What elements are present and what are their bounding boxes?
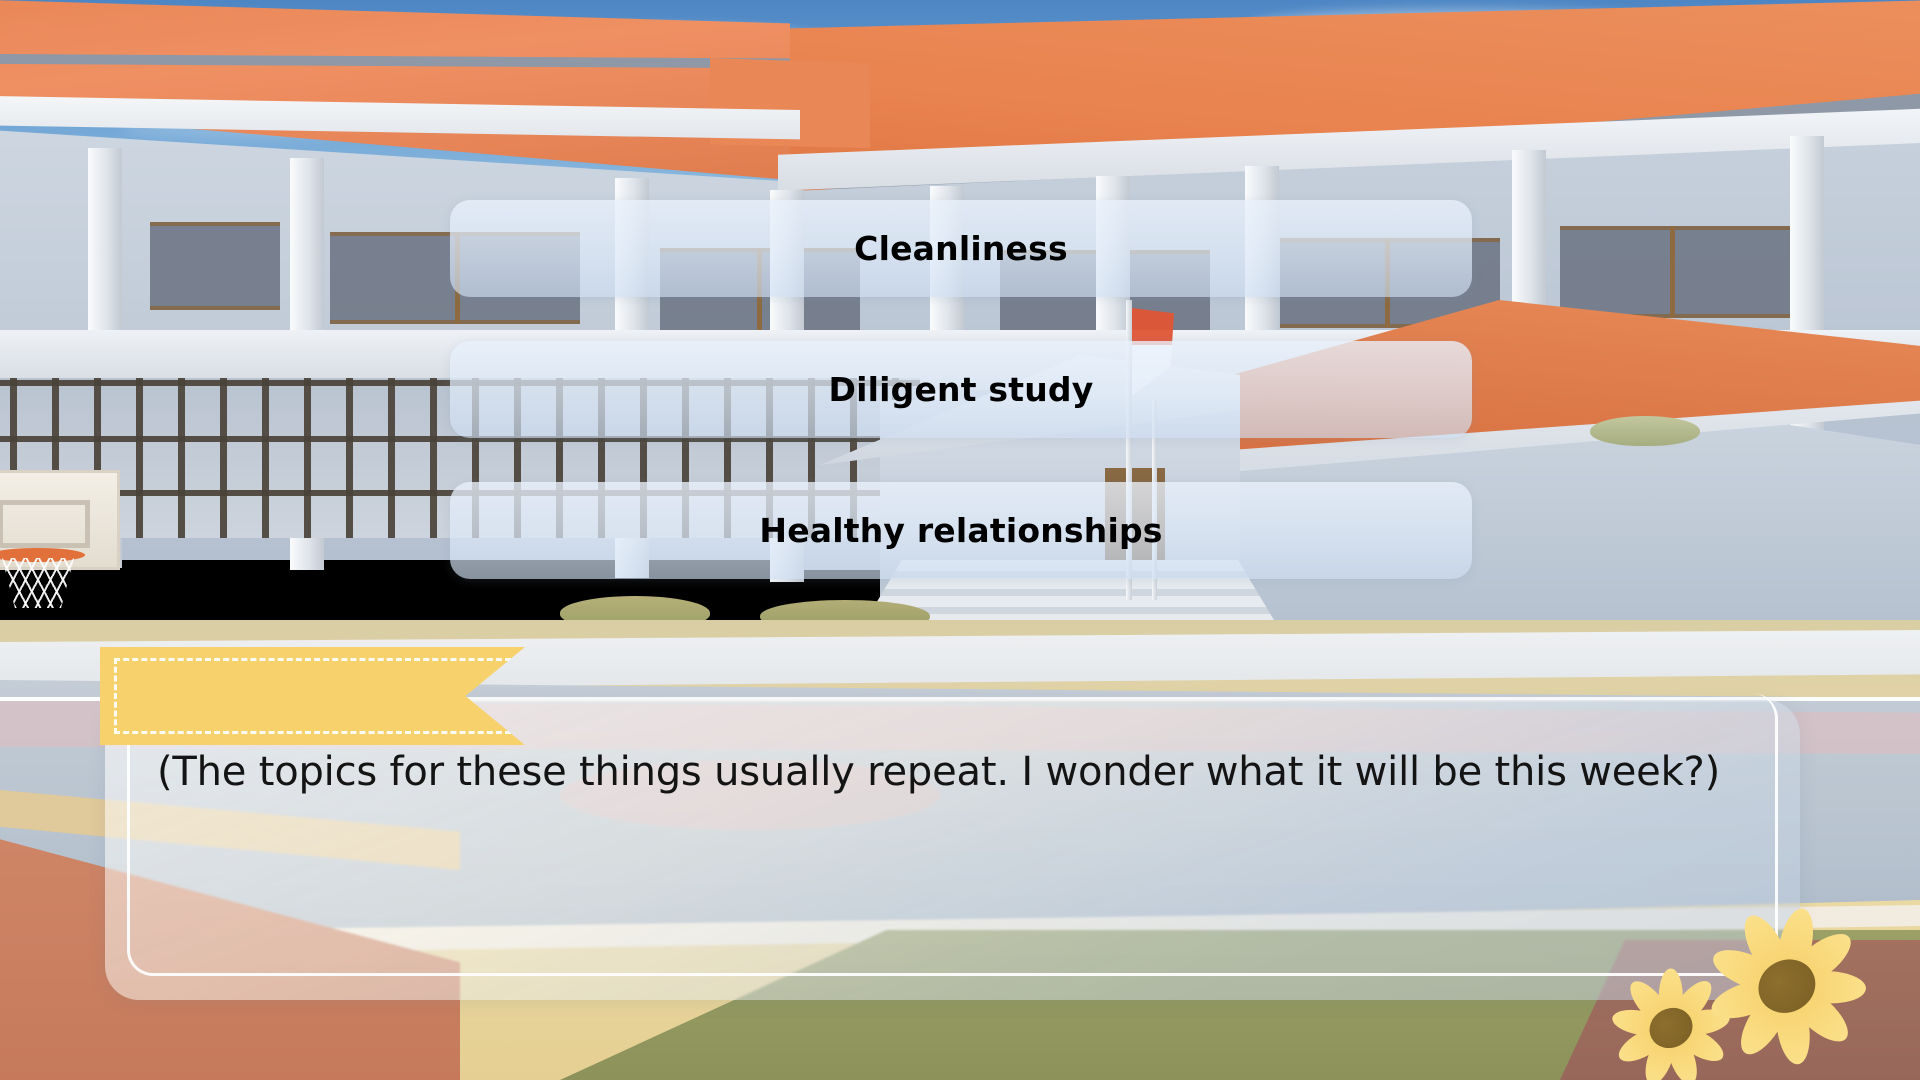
bush xyxy=(1590,416,1700,446)
window xyxy=(150,222,280,310)
sunflower-decoration xyxy=(1610,905,1920,1080)
choice-button-cleanliness[interactable]: Cleanliness xyxy=(450,200,1472,297)
choice-label: Cleanliness xyxy=(854,229,1068,268)
game-screen: Cleanliness Diligent study Healthy relat… xyxy=(0,0,1920,1080)
basketball-backboard-inner xyxy=(0,500,90,548)
choice-label: Diligent study xyxy=(829,370,1094,409)
sunflower-large-icon xyxy=(1706,905,1868,1067)
choice-button-healthy-relationships[interactable]: Healthy relationships xyxy=(450,482,1472,579)
choice-menu: Cleanliness Diligent study Healthy relat… xyxy=(450,200,1472,579)
speaker-name-ribbon xyxy=(100,647,525,745)
dialogue-text: (The topics for these things usually rep… xyxy=(157,744,1740,801)
dialogue-box[interactable]: (The topics for these things usually rep… xyxy=(105,700,1800,1000)
window-mullion xyxy=(1670,226,1675,318)
window xyxy=(1560,226,1790,318)
choice-button-diligent-study[interactable]: Diligent study xyxy=(450,341,1472,438)
basketball-net xyxy=(2,558,74,608)
speaker-name xyxy=(100,647,525,745)
choice-label: Healthy relationships xyxy=(759,511,1162,550)
